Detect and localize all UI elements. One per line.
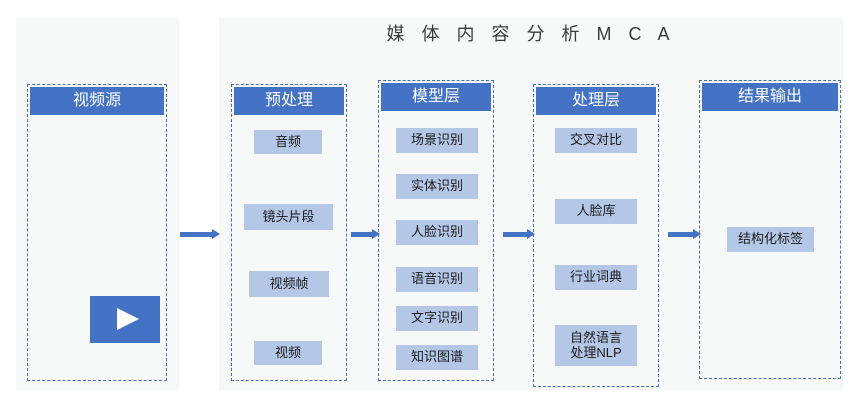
node-shot-segment[interactable]: 镜头片段: [244, 204, 333, 230]
arrow-process-to-output: [668, 229, 701, 239]
play-button-icon[interactable]: [90, 296, 160, 343]
node-knowledge-graph[interactable]: 知识图谱: [396, 345, 478, 370]
column-header-processing-layer: 处理层: [536, 87, 656, 115]
node-nlp[interactable]: 自然语言 处理NLP: [555, 325, 637, 366]
column-header-preprocess: 预处理: [234, 87, 344, 115]
arrow-shaft: [351, 232, 372, 237]
column-preprocess: 预处理 音频 镜头片段 视频帧 视频: [231, 84, 347, 381]
node-speech-recognition[interactable]: 语音识别: [396, 267, 478, 292]
node-audio[interactable]: 音频: [254, 130, 322, 154]
play-triangle-glyph: [117, 308, 139, 330]
column-header-result-output: 结果输出: [702, 83, 838, 111]
arrow-preprocess-to-model: [351, 229, 380, 239]
arrow-model-to-process: [503, 229, 535, 239]
node-entity-recognition[interactable]: 实体识别: [396, 174, 478, 199]
node-cross-comparison[interactable]: 交叉对比: [555, 128, 637, 153]
node-face-database[interactable]: 人脸库: [555, 199, 637, 224]
arrow-source-to-preprocess: [180, 229, 220, 239]
arrow-head: [212, 229, 220, 239]
arrow-head: [527, 229, 535, 239]
node-industry-dictionary[interactable]: 行业词典: [555, 265, 637, 290]
arrow-head: [693, 229, 701, 239]
node-text-recognition[interactable]: 文字识别: [396, 306, 478, 331]
node-video-frame[interactable]: 视频帧: [249, 271, 329, 297]
column-header-video-source: 视频源: [30, 87, 164, 115]
node-video[interactable]: 视频: [254, 341, 322, 365]
diagram-title: 媒 体 内 容 分 析 M C A: [219, 20, 843, 46]
arrow-shaft: [180, 232, 212, 237]
column-result-output: 结果输出 结构化标签: [699, 80, 841, 379]
column-video-source: 视频源: [27, 84, 167, 381]
node-face-recognition[interactable]: 人脸识别: [396, 220, 478, 245]
arrow-shaft: [668, 232, 693, 237]
node-scene-recognition[interactable]: 场景识别: [396, 128, 478, 153]
node-structured-tags[interactable]: 结构化标签: [727, 227, 814, 252]
arrow-head: [372, 229, 380, 239]
arrow-shaft: [503, 232, 527, 237]
column-model-layer: 模型层 场景识别 实体识别 人脸识别 语音识别 文字识别 知识图谱: [378, 80, 494, 381]
column-processing-layer: 处理层 交叉对比 人脸库 行业词典 自然语言 处理NLP: [533, 84, 659, 387]
column-header-model-layer: 模型层: [381, 83, 491, 111]
